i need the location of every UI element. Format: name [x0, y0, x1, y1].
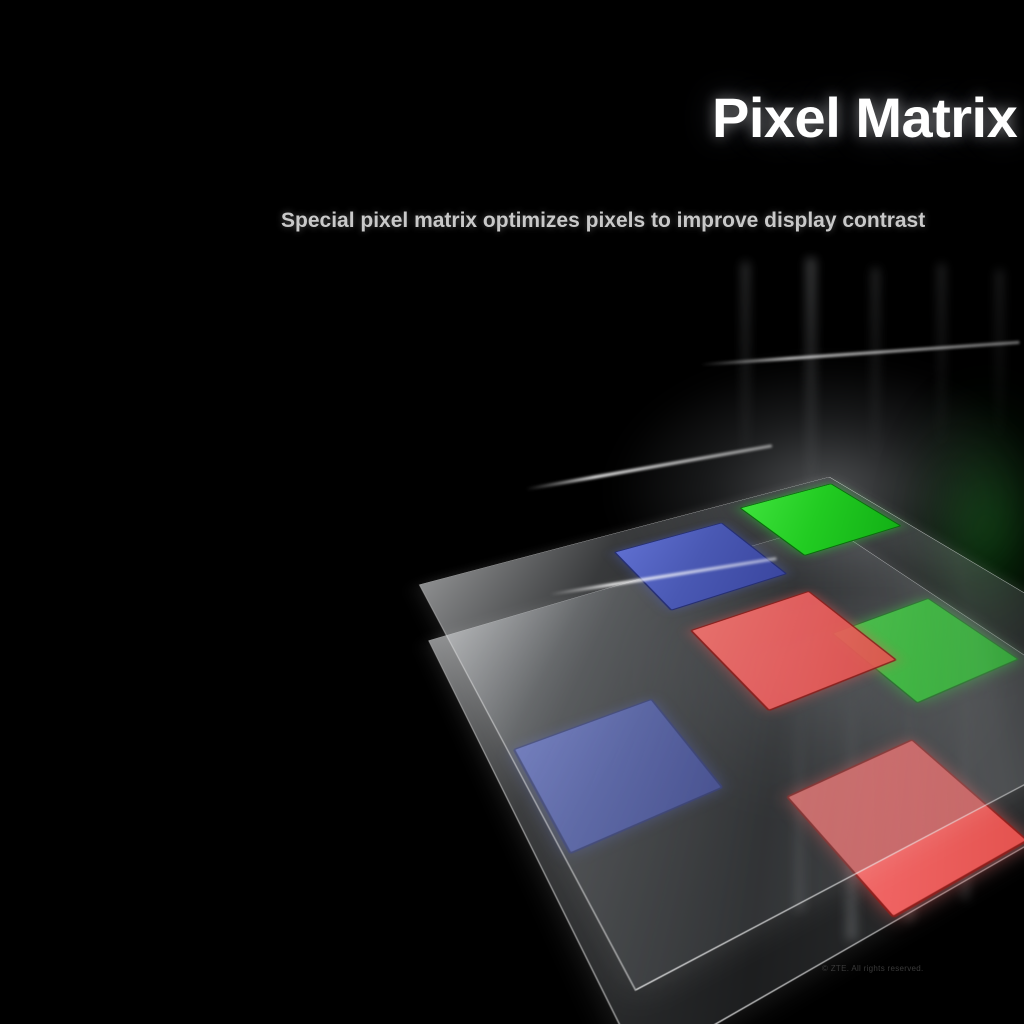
- red-subpixel-upper: [690, 591, 898, 712]
- pixel-plate-stack: [419, 468, 1024, 1024]
- page-title: Pixel Matrix: [712, 85, 1017, 150]
- blue-subpixel-upper: [614, 522, 788, 610]
- green-subpixel-upper: [739, 483, 901, 556]
- pixel-matrix-diagram: [0, 0, 1024, 1024]
- slide-canvas: Pixel Matrix Special pixel matrix optimi…: [0, 0, 1024, 1024]
- copyright-notice: © ZTE. All rights reserved.: [822, 964, 924, 973]
- upper-plate: [419, 477, 1024, 991]
- page-subtitle: Special pixel matrix optimizes pixels to…: [281, 209, 925, 233]
